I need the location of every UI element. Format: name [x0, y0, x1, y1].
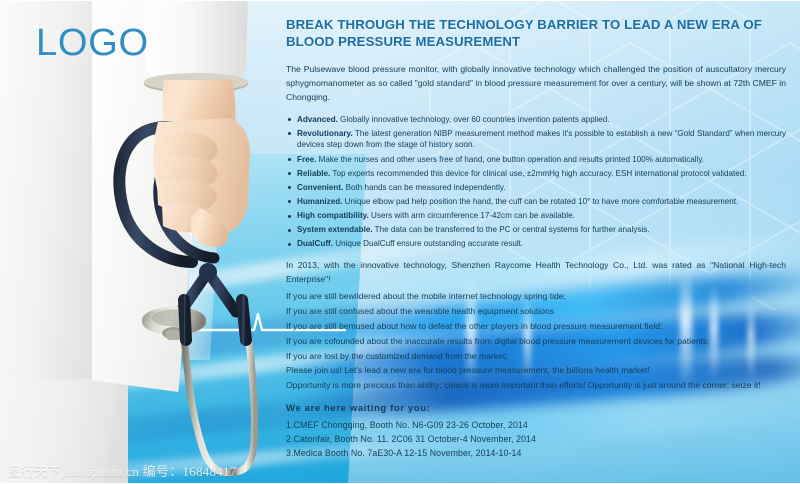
feature-text: Make the nurses and other users free of …: [316, 155, 704, 164]
content-column: BREAK THROUGH THE TECHNOLOGY BARRIER TO …: [286, 16, 786, 460]
feature-list: Advanced. Globally innovative technology…: [286, 114, 786, 250]
body-paragraph: If you are still bewildered about the mo…: [286, 290, 786, 304]
intro-paragraph: The Pulsewave blood pressure monitor, wi…: [286, 63, 786, 105]
list-item: High compatibility. Users with arm circu…: [286, 210, 786, 222]
feature-term: High compatibility.: [297, 211, 369, 220]
body-paragraph: Please join us! Let's lead a new era for…: [286, 364, 786, 378]
feature-term: Convenient.: [297, 183, 343, 192]
poster-canvas: LOGO BREAK THROUGH THE TECHNOLOGY BARRIE…: [0, 0, 800, 484]
stock-photo-watermark: 图行天下photophoto.cn 编号：16848417: [8, 461, 237, 480]
feature-term: Free.: [297, 155, 316, 164]
top-border: [0, 0, 800, 1]
feature-term: Humanized.: [297, 197, 342, 206]
body-paragraph: If you are still bemused about how to de…: [286, 320, 786, 334]
feature-term: Reliable.: [297, 169, 330, 178]
logo[interactable]: LOGO: [36, 22, 149, 65]
body-paragraph: If you are still confused about the wear…: [286, 305, 786, 319]
body-paragraph-opportunity: Opportunity is more precious than abilit…: [286, 379, 786, 393]
feature-term: Revolutionary.: [297, 129, 353, 138]
feature-text: Unique elbow pad help position the hand,…: [342, 197, 738, 206]
feature-text: Globally innovative technology, over 60 …: [338, 115, 610, 124]
feature-text: Users with arm circumference 17-42cm can…: [369, 211, 575, 220]
body-paragraph: If you are cofounded about the inaccurat…: [286, 335, 786, 349]
list-item: Advanced. Globally innovative technology…: [286, 114, 786, 126]
feature-term: Advanced.: [297, 115, 338, 124]
feature-text: The data can be transferred to the PC or…: [373, 225, 650, 234]
event-list-item: 1.CMEF Chongqing, Booth No. N6-G09 23-26…: [286, 419, 786, 433]
feature-text: Unique DualCuff ensure outstanding accur…: [333, 239, 523, 248]
feature-term: DualCuff.: [297, 239, 333, 248]
list-item: Reliable. Top experts recommended this d…: [286, 168, 786, 180]
event-list-item: 2.Catonfair, Booth No. 11. 2C06 31 Octob…: [286, 433, 786, 447]
list-item: System extendable. The data can be trans…: [286, 224, 786, 236]
list-item: Free. Make the nurses and other users fr…: [286, 154, 786, 166]
list-item: DualCuff. Unique DualCuff ensure outstan…: [286, 238, 786, 250]
event-list-item: 3.Medica Booth No. 7aE30-A 12-15 Novembe…: [286, 447, 786, 461]
cta-heading: We are here waiting for you:: [286, 403, 786, 414]
feature-text: The latest generation NIBP measurement m…: [297, 129, 786, 150]
list-item: Revolutionary. The latest generation NIB…: [286, 128, 786, 151]
feature-term: System extendable.: [297, 225, 373, 234]
page-title: BREAK THROUGH THE TECHNOLOGY BARRIER TO …: [286, 16, 786, 51]
list-item: Humanized. Unique elbow pad help positio…: [286, 196, 786, 208]
body-paragraph: If you are lost by the customized demand…: [286, 350, 786, 364]
feature-text: Top experts recommended this device for …: [330, 169, 746, 178]
body-paragraph: In 2013, with the innovative technology,…: [286, 259, 786, 287]
feature-text: Both hands can be measured independently…: [343, 183, 505, 192]
list-item: Convenient. Both hands can be measured i…: [286, 182, 786, 194]
